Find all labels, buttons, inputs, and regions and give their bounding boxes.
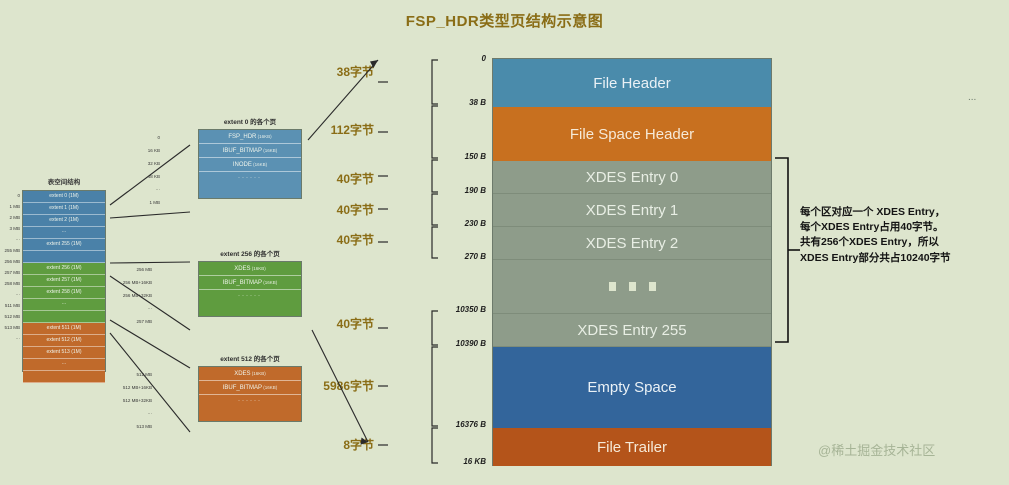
tablespace-tick-7: 257 MB	[0, 267, 22, 278]
extent-box-1-ticks: 256 MB256 MB+16KB256 MB+32KB···257 MB	[120, 263, 154, 328]
block-xdes-entry-255-label: XDES Entry 255	[577, 322, 686, 339]
extent-1-tick-4: 257 MB	[120, 315, 154, 328]
extent-1-row-2: ······	[199, 290, 301, 303]
tablespace-column: extent 0 (1M)extent 1 (1M)extent 2 (1M)·…	[22, 190, 106, 372]
right-ellipsis: ...	[968, 92, 976, 103]
tablespace-tick-2: 2 MB	[0, 212, 22, 223]
tablespace-row: extent 257 (1M)	[23, 275, 105, 287]
extent-box-1: extent 256 的各个页 XDES (16KB)IBUF_BITMAP (…	[198, 248, 302, 317]
tablespace-segment-2: extent 511 (1M)extent 512 (1M)extent 513…	[23, 323, 105, 383]
extent-2-tick-2: 512 MB+32KB	[120, 394, 154, 407]
extent-row-size: (16KB)	[262, 385, 277, 390]
tablespace-row-filler: .	[23, 251, 105, 263]
block-xdes-entry-1-label: XDES Entry 1	[586, 202, 679, 219]
extent-row-size: (16KB)	[251, 266, 266, 271]
tablespace-row-filler: .	[23, 311, 105, 323]
offset-150: 150 B	[426, 152, 486, 161]
tablespace-tick-6: 256 MB	[0, 256, 22, 267]
tablespace-row: extent 513 (1M)	[23, 347, 105, 359]
offset-230: 230 B	[426, 219, 486, 228]
extent-box-2-caption: extent 512 的各个页	[198, 353, 302, 363]
extent-row-name: ······	[238, 293, 262, 299]
extent-box-2-ticks: 512 MB512 MB+16KB512 MB+32KB···513 MB	[120, 368, 154, 433]
extent-row-name: INODE	[233, 162, 252, 168]
extent-box-1-body: XDES (16KB)IBUF_BITMAP (16KB)······	[198, 261, 302, 317]
tablespace-row: extent 512 (1M)	[23, 335, 105, 347]
tablespace-tick-11: 512 MB	[0, 311, 22, 322]
fsp-hdr-page-structure: File Header File Space Header XDES Entry…	[492, 58, 772, 466]
tablespace-tick-10: 511 MB	[0, 300, 22, 311]
extent-row-size: (16KB)	[252, 162, 267, 167]
tablespace-tick-1: 1 MB	[0, 201, 22, 212]
extent-box-0-body: FSP_HDR (16KB)IBUF_BITMAP (16KB)INODE (1…	[198, 129, 302, 199]
extent-row-name: XDES	[234, 371, 250, 377]
tablespace-row: extent 0 (1M)	[23, 191, 105, 203]
tablespace-tick-5: 255 MB	[0, 245, 22, 256]
block-file-header: File Header	[493, 59, 771, 107]
extent-row-size: (16KB)	[251, 371, 266, 376]
ellipsis-dots	[493, 260, 771, 313]
size-label-file-space-header: 112字节	[294, 121, 374, 138]
tablespace-tick-0: 0	[0, 190, 22, 201]
extent-row-size: (16KB)	[262, 280, 277, 285]
extent-1-tick-0: 256 MB	[120, 263, 154, 276]
extent-row-name: ······	[238, 175, 262, 181]
extent-1-tick-2: 256 MB+32KB	[120, 289, 154, 302]
block-empty-space: Empty Space	[493, 347, 771, 428]
tablespace-tick-12: 513 MB	[0, 322, 22, 333]
extent-row-size: (16KB)	[262, 148, 277, 153]
block-empty-space-label: Empty Space	[587, 379, 676, 396]
tablespace-row-filler: .	[23, 371, 105, 383]
extent-1-row-1: IBUF_BITMAP (16KB)	[199, 276, 301, 290]
extent-0-tick-4: ···	[128, 183, 162, 196]
block-xdes-entry-2-label: XDES Entry 2	[586, 235, 679, 252]
tablespace-segment-0: extent 0 (1M)extent 1 (1M)extent 2 (1M)·…	[23, 191, 105, 263]
tablespace-tick-3: 3 MB	[0, 223, 22, 234]
offset-10350: 10350 B	[414, 305, 486, 314]
extent-box-2: extent 512 的各个页 XDES (16KB)IBUF_BITMAP (…	[198, 353, 302, 422]
tablespace-tick-4: ···	[0, 234, 22, 245]
extent-2-tick-1: 512 MB+16KB	[120, 381, 154, 394]
extent-2-tick-3: ···	[120, 407, 154, 420]
extent-row-name: FSP_HDR	[228, 134, 256, 140]
tablespace-row: extent 511 (1M)	[23, 323, 105, 335]
block-xdes-entry-255: XDES Entry 255	[493, 314, 771, 347]
extent-box-1-caption: extent 256 的各个页	[198, 248, 302, 258]
extent-row-name: IBUF_BITMAP	[223, 385, 262, 391]
offset-190: 190 B	[426, 186, 486, 195]
block-file-space-header: File Space Header	[493, 107, 771, 161]
offset-270: 270 B	[426, 252, 486, 261]
size-label-xdes-2: 40字节	[300, 231, 374, 248]
size-label-xdes-255: 40字节	[300, 315, 374, 332]
size-label-file-trailer: 8字节	[300, 436, 374, 453]
tablespace-row: ···	[23, 227, 105, 239]
extent-2-tick-4: 513 MB	[120, 420, 154, 433]
extent-0-row-1: IBUF_BITMAP (16KB)	[199, 144, 301, 158]
size-label-xdes-1: 40字节	[300, 201, 374, 218]
tablespace-tick-13: ···	[0, 333, 22, 344]
extent-row-name: XDES	[234, 266, 250, 272]
extent-2-row-0: XDES (16KB)	[199, 367, 301, 381]
extent-0-tick-2: 32 KB	[128, 157, 162, 170]
block-file-trailer-label: File Trailer	[597, 439, 667, 456]
extent-0-row-0: FSP_HDR (16KB)	[199, 130, 301, 144]
tablespace-row: ···	[23, 299, 105, 311]
tablespace-row: ···	[23, 359, 105, 371]
tablespace-tick-8: 258 MB	[0, 278, 22, 289]
size-label-file-header: 38字节	[300, 63, 374, 80]
extent-box-0-caption: extent 0 的各个页	[198, 116, 302, 126]
block-xdes-entry-0: XDES Entry 0	[493, 161, 771, 194]
tablespace-row: extent 1 (1M)	[23, 203, 105, 215]
tablespace-caption: 表空间结构	[18, 176, 110, 186]
extent-box-0: extent 0 的各个页 FSP_HDR (16KB)IBUF_BITMAP …	[198, 116, 302, 199]
block-file-space-header-label: File Space Header	[570, 126, 694, 143]
block-xdes-entry-0-label: XDES Entry 0	[586, 169, 679, 186]
extent-box-0-ticks: 016 KB32 KB48 KB···1 MB	[128, 131, 162, 209]
watermark: @稀土掘金技术社区	[818, 440, 935, 459]
offset-0: 0	[432, 54, 486, 63]
tablespace-segment-1: extent 256 (1M)extent 257 (1M)extent 258…	[23, 263, 105, 323]
block-file-trailer: File Trailer	[493, 428, 771, 466]
size-label-empty-space: 5986字节	[288, 377, 374, 394]
extent-2-row-1: IBUF_BITMAP (16KB)	[199, 381, 301, 395]
extent-row-name: IBUF_BITMAP	[223, 280, 262, 286]
offset-10390: 10390 B	[414, 339, 486, 348]
extent-1-row-filler	[199, 303, 301, 316]
extent-1-tick-3: ···	[120, 302, 154, 315]
extent-row-size: (16KB)	[256, 134, 271, 139]
extent-0-tick-5: 1 MB	[128, 196, 162, 209]
extent-0-tick-3: 48 KB	[128, 170, 162, 183]
extent-row-name: IBUF_BITMAP	[223, 148, 262, 154]
extent-1-row-0: XDES (16KB)	[199, 262, 301, 276]
offset-16kb: 16 KB	[426, 457, 486, 466]
extent-2-tick-0: 512 MB	[120, 368, 154, 381]
extent-2-row-2: ······	[199, 395, 301, 408]
block-xdes-ellipsis	[493, 260, 771, 314]
tablespace-row: extent 255 (1M)	[23, 239, 105, 251]
offset-38: 38 B	[432, 98, 486, 107]
extent-0-tick-1: 16 KB	[128, 144, 162, 157]
offset-16376: 16376 B	[414, 420, 486, 429]
tablespace-tick-9: ···	[0, 289, 22, 300]
tablespace-row: extent 256 (1M)	[23, 263, 105, 275]
extent-0-row-3: ······	[199, 172, 301, 185]
tablespace-row: extent 2 (1M)	[23, 215, 105, 227]
extent-row-name: ······	[238, 398, 262, 404]
block-xdes-entry-2: XDES Entry 2	[493, 227, 771, 260]
size-label-xdes-0: 40字节	[300, 170, 374, 187]
extent-box-2-body: XDES (16KB)IBUF_BITMAP (16KB)······	[198, 366, 302, 422]
xdes-annotation: 每个区对应一个 XDES Entry， 每个XDES Entry占用40字节。 …	[800, 205, 1005, 266]
extent-1-tick-1: 256 MB+16KB	[120, 276, 154, 289]
tablespace-row: extent 258 (1M)	[23, 287, 105, 299]
extent-0-row-2: INODE (16KB)	[199, 158, 301, 172]
extent-0-tick-0: 0	[128, 131, 162, 144]
page-title: FSP_HDR类型页结构示意图	[0, 10, 1009, 31]
tablespace-tick-labels: 01 MB2 MB3 MB···255 MB256 MB257 MB258 MB…	[0, 190, 22, 344]
extent-0-row-filler	[199, 185, 301, 198]
block-xdes-entry-1: XDES Entry 1	[493, 194, 771, 227]
extent-2-row-filler	[199, 408, 301, 421]
block-file-header-label: File Header	[593, 75, 671, 92]
diagram-canvas: FSP_HDR类型页结构示意图 表空间结构 01 MB2 MB3 MB···25…	[0, 0, 1009, 485]
